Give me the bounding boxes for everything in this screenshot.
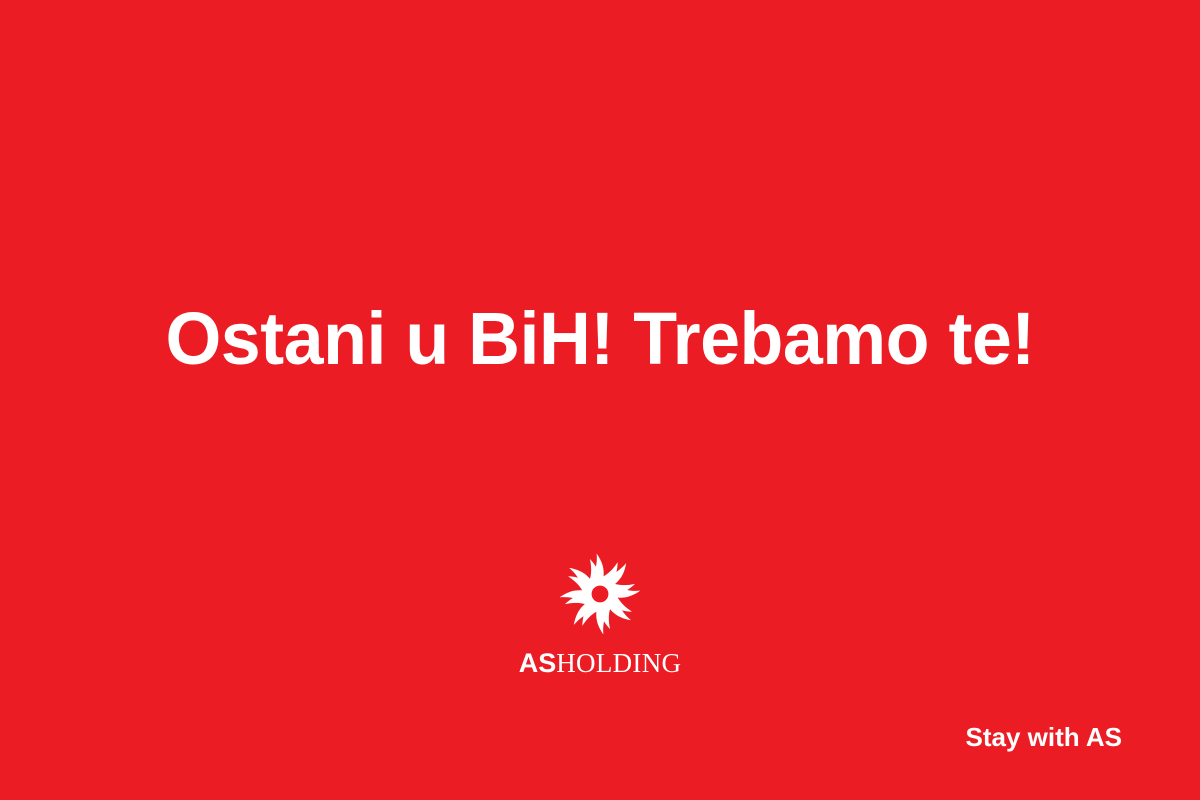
logo-wordmark-holding: HOLDING <box>556 648 681 678</box>
logo-wordmark: ASHOLDING <box>519 650 682 677</box>
headline-container: Ostani u BiH! Trebamo te! <box>0 300 1200 378</box>
logo-lockup: ASHOLDING <box>0 552 1200 677</box>
poster-canvas: Ostani u BiH! Trebamo te! <box>0 0 1200 800</box>
page-title: Ostani u BiH! Trebamo te! <box>165 300 1034 378</box>
tagline: Stay with AS <box>965 722 1122 753</box>
logo-wordmark-as: AS <box>519 648 557 678</box>
as-holding-swirl-logo-icon <box>556 552 644 636</box>
